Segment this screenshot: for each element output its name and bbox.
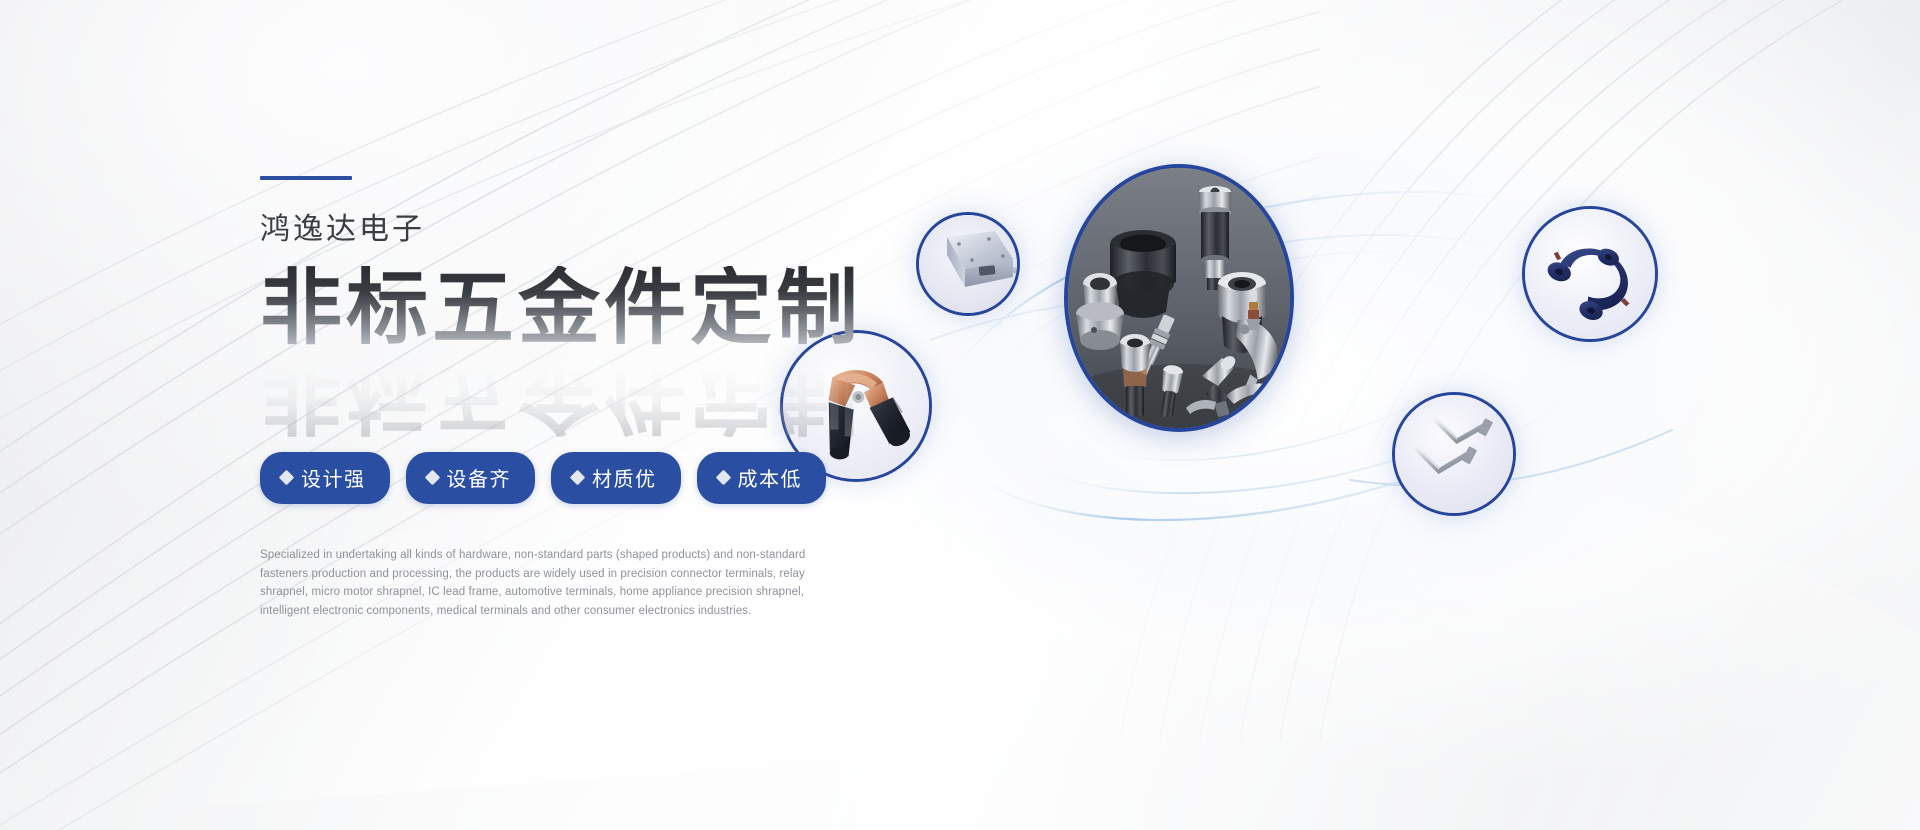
machined-hardware-parts-photo [1068, 168, 1294, 432]
metal-enclosure-box-icon [919, 215, 1020, 316]
feature-pill-list: 设计强 设备齐 材质优 成本低 [260, 452, 900, 504]
page-title: 非标五金件定制 [260, 266, 900, 353]
feature-pill-label: 成本低 [738, 463, 803, 492]
product-circle-machined-parts[interactable] [1064, 164, 1294, 432]
feature-pill-cost[interactable]: 成本低 [697, 452, 827, 504]
diamond-icon [570, 470, 586, 486]
bent-terminal-pins-icon [1395, 395, 1516, 516]
product-circle-metal-enclosure[interactable] [916, 212, 1020, 316]
product-showcase [920, 150, 1680, 570]
feature-pill-equipment[interactable]: 设备齐 [406, 452, 536, 504]
feature-pill-label: 设备齐 [447, 463, 512, 492]
diamond-icon [715, 470, 731, 486]
diamond-icon [279, 470, 295, 486]
feature-pill-label: 材质优 [592, 463, 657, 492]
product-circle-terminal-pins[interactable] [1392, 392, 1516, 516]
hero-banner: 鸿逸达电子 非标五金件定制 非标五金件定制 设计强 设备齐 材质优 成本低 [0, 0, 1920, 830]
retaining-clip-ring-icon [1525, 209, 1658, 342]
accent-rule [260, 176, 352, 180]
product-circle-retaining-clip[interactable] [1522, 206, 1658, 342]
headline-wrapper: 非标五金件定制 非标五金件定制 [260, 266, 900, 416]
diamond-icon [424, 470, 440, 486]
feature-pill-label: 设计强 [301, 463, 366, 492]
company-description: Specialized in undertaking all kinds of … [260, 546, 825, 621]
feature-pill-design[interactable]: 设计强 [260, 452, 390, 504]
headline-reflection: 非标五金件定制 [260, 350, 862, 437]
hero-copy-block: 鸿逸达电子 非标五金件定制 非标五金件定制 设计强 设备齐 材质优 成本低 [260, 176, 900, 621]
brand-name: 鸿逸达电子 [260, 212, 900, 248]
feature-pill-material[interactable]: 材质优 [551, 452, 681, 504]
